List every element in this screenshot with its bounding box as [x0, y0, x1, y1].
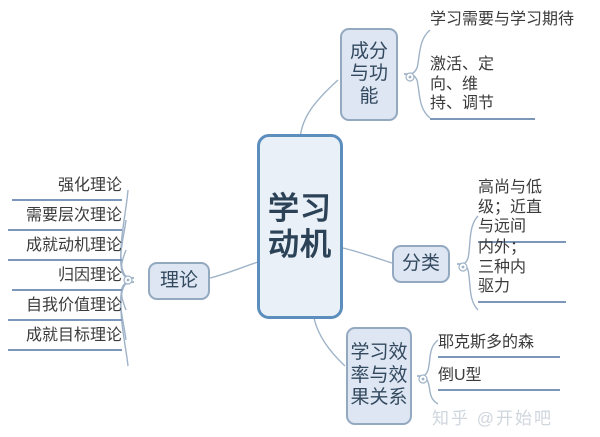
branch-node-efficiency-effect-relation[interactable]: 学习效 率与效 果关系 — [346, 327, 412, 425]
leaf-learning-need-and-expectation[interactable]: 学习需要与学习期待 — [430, 10, 595, 33]
watermark: 知乎 @开始吧 — [432, 404, 553, 429]
leaf-attribution-theory[interactable]: 归因理论 — [12, 266, 122, 291]
leaf-noble-vs-base-near-vs-far[interactable]: 高尚与低 级；近直 与远间 — [478, 178, 566, 243]
branch-node-classification[interactable]: 分类 — [392, 245, 450, 283]
leaf-self-worth-theory[interactable]: 自我价值理论 — [8, 296, 122, 321]
central-node-learning-motivation[interactable]: 学习 动机 — [257, 134, 343, 319]
leaf-achievement-motivation-theory[interactable]: 成就动机理论 — [8, 236, 122, 261]
leaf-hierarchy-of-needs-theory[interactable]: 需要层次理论 — [8, 206, 122, 231]
leaf-activate-orient-maintain-regulate[interactable]: 激活、定 向、维 持、调节 — [430, 55, 535, 120]
mindmap-canvas: 学习 动机 成分 与功 能 学习需要与学习期待 激活、定 向、维 持、调节 理论… — [0, 0, 600, 437]
leaf-yerkes-dodson[interactable]: 耶克斯多的森 — [438, 333, 560, 358]
leaf-achievement-goal-theory[interactable]: 成就目标理论 — [8, 326, 122, 351]
branch-node-composition-and-function[interactable]: 成分 与功 能 — [340, 28, 398, 121]
leaf-internal-external-three-drives[interactable]: 内外； 三种内 驱力 — [478, 238, 566, 303]
leaf-reinforcement-theory[interactable]: 强化理论 — [12, 176, 122, 201]
branch-node-theory[interactable]: 理论 — [148, 262, 210, 300]
leaf-inverted-u-shape[interactable]: 倒U型 — [438, 366, 560, 391]
